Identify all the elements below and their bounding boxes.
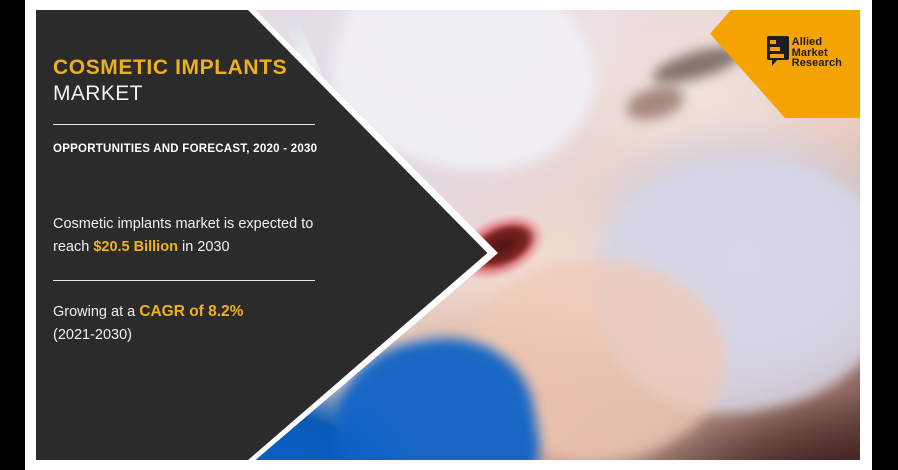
speech-bubble-bars-icon [767, 36, 789, 66]
logo-wordmark: Allied Market Research [792, 36, 842, 69]
gloved-hand-right-shape [573, 132, 860, 439]
market-value-statement: Cosmetic implants market is expected to … [53, 213, 315, 258]
screenshot-root: Allied Market Research COSMETIC IMPLANTS… [0, 0, 898, 470]
cheek-shape [466, 260, 726, 460]
cagr-statement: Growing at a CAGR of 8.2% [53, 301, 315, 324]
stats-divider [53, 280, 315, 281]
content-spacer [53, 158, 343, 213]
market-value-tail: in 2030 [178, 239, 230, 255]
page-title-secondary: MARKET [53, 81, 343, 107]
logo-line-3: Research [792, 58, 842, 69]
market-value-figure: $20.5 Billion [93, 239, 178, 255]
logo-line-1: Allied [792, 37, 842, 48]
cagr-lead: Growing at a [53, 304, 139, 320]
cagr-period: (2021-2030) [53, 324, 343, 347]
forecast-scope-label: OPPORTUNITIES AND FORECAST, 2020 - 2030 [53, 141, 321, 158]
copy-panel-content: COSMETIC IMPLANTS MARKET OPPORTUNITIES A… [53, 55, 343, 346]
market-report-banner: Allied Market Research COSMETIC IMPLANTS… [36, 10, 860, 460]
cagr-figure: CAGR of 8.2% [139, 303, 243, 320]
eye-shape [623, 81, 687, 124]
title-divider [53, 124, 315, 125]
allied-market-research-logo[interactable]: Allied Market Research [767, 36, 842, 69]
page-title-primary: COSMETIC IMPLANTS [53, 55, 343, 81]
